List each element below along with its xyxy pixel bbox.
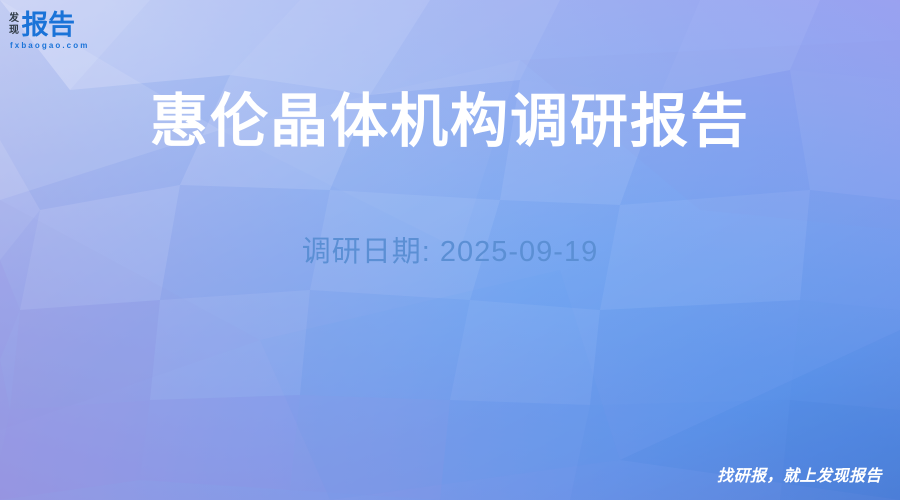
logo-url: fxbaogao.com	[9, 41, 119, 51]
report-cover: 发 现 报告 fxbaogao.com 惠伦晶体机构调研报告 调研日期: 202…	[0, 0, 900, 500]
footer-slogan: 找研报，就上发现报告	[717, 466, 882, 488]
logo-wordmark-row: 发 现 报告	[9, 10, 119, 40]
logo-wordmark: 报告	[22, 11, 75, 40]
logo-mark-fa-xian: 发 现	[9, 13, 19, 37]
cover-subtitle: 调研日期: 2025-09-19	[0, 232, 900, 272]
logo-mark-char-2: 现	[9, 25, 19, 37]
cover-title: 惠伦晶体机构调研报告	[0, 86, 900, 158]
logo-mark-char-1: 发	[9, 13, 19, 25]
site-logo[interactable]: 发 现 报告 fxbaogao.com	[9, 10, 119, 54]
